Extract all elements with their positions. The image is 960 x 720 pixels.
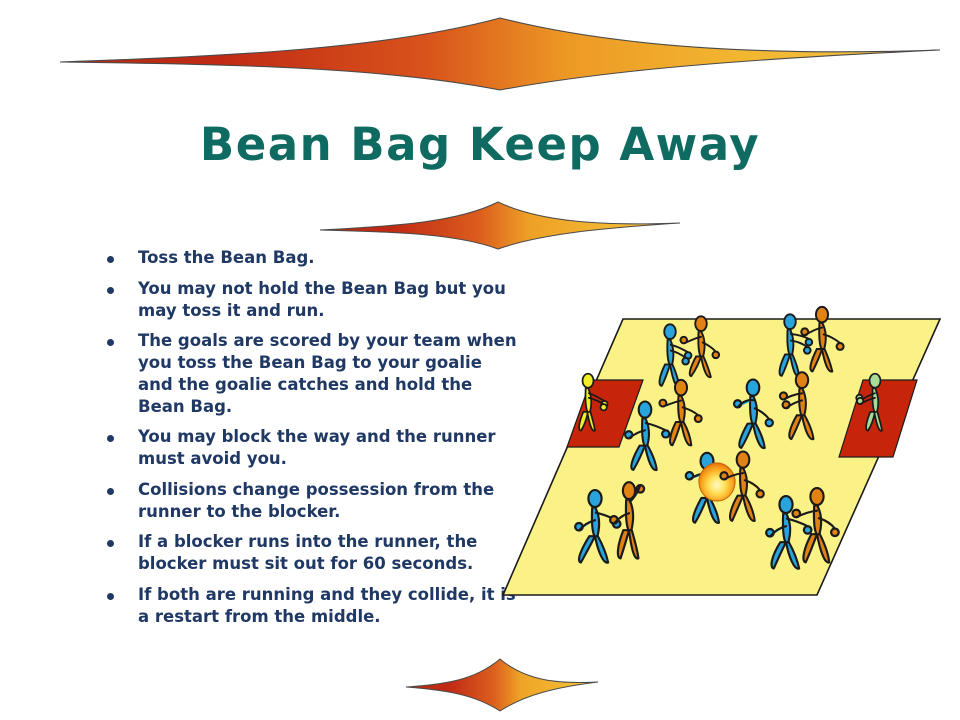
list-item: If a blocker runs into the runner, the b… (100, 531, 520, 575)
list-item: If both are running and they collide, it… (100, 584, 520, 628)
bean-bag-icon (699, 463, 735, 501)
list-item: Collisions change possession from the ru… (100, 479, 520, 523)
slide-canvas: Bean Bag Keep Away Toss the Bean Bag. Yo… (0, 0, 960, 720)
bullet-dot-icon (107, 287, 114, 294)
list-item-label: If a blocker runs into the runner, the b… (138, 531, 520, 575)
playing-field-illustration (495, 305, 945, 605)
list-item-label: You may block the way and the runner mus… (138, 426, 520, 470)
bullet-dot-icon (107, 256, 114, 263)
list-item-label: Toss the Bean Bag. (138, 247, 520, 269)
list-item: Toss the Bean Bag. (100, 247, 520, 269)
list-item-label: If both are running and they collide, it… (138, 584, 520, 628)
rules-bullet-list: Toss the Bean Bag. You may not hold the … (100, 247, 520, 636)
list-item-label: The goals are scored by your team when y… (138, 330, 520, 417)
top-divider-ornament (58, 6, 942, 96)
list-item-label: You may not hold the Bean Bag but you ma… (138, 278, 520, 322)
list-item: You may not hold the Bean Bag but you ma… (100, 278, 520, 322)
list-item-label: Collisions change possession from the ru… (138, 479, 520, 523)
bullet-dot-icon (107, 488, 114, 495)
bullet-dot-icon (107, 339, 114, 346)
list-item: The goals are scored by your team when y… (100, 330, 520, 417)
bullet-dot-icon (107, 593, 114, 600)
bullet-dot-icon (107, 435, 114, 442)
list-item: You may block the way and the runner mus… (100, 426, 520, 470)
bottom-divider-ornament (402, 654, 602, 716)
bullet-dot-icon (107, 540, 114, 547)
page-title: Bean Bag Keep Away (0, 118, 960, 171)
